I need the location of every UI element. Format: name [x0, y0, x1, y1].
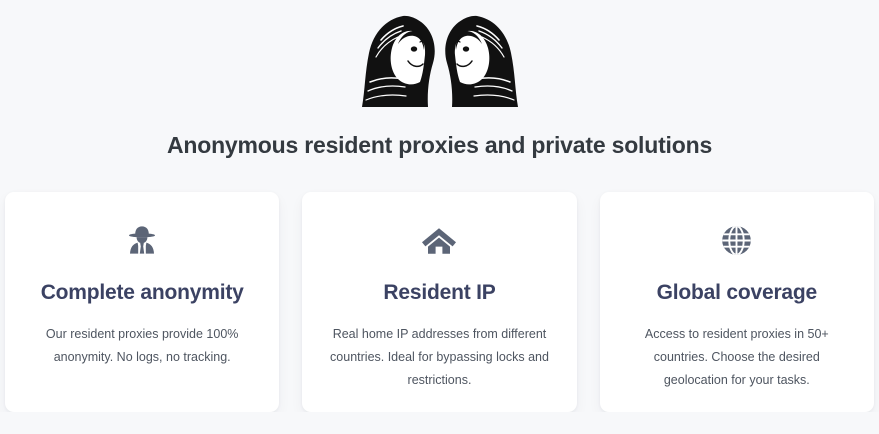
- card-title: Complete anonymity: [41, 281, 244, 305]
- page-title: Anonymous resident proxies and private s…: [0, 132, 879, 160]
- card-description: Our resident proxies provide 100% anonym…: [26, 323, 258, 369]
- landing-page: Anonymous resident proxies and private s…: [0, 0, 879, 434]
- hero-section: Anonymous resident proxies and private s…: [0, 0, 879, 160]
- page-bottom-spacer: [0, 412, 879, 434]
- feature-cards: Complete anonymity Our resident proxies …: [5, 192, 874, 412]
- card-description: Access to resident proxies in 50+ countr…: [621, 323, 853, 392]
- globe-icon: [719, 222, 755, 258]
- card-title: Global coverage: [657, 281, 817, 305]
- feature-card-resident-ip: Resident IP Real home IP addresses from …: [302, 192, 576, 412]
- two-hooded-figures-logo: [340, 6, 540, 118]
- feature-card-global-coverage: Global coverage Access to resident proxi…: [600, 192, 874, 412]
- card-title: Resident IP: [383, 281, 495, 305]
- feature-card-complete-anonymity: Complete anonymity Our resident proxies …: [5, 192, 279, 412]
- home-icon: [421, 222, 457, 258]
- spy-icon: [124, 222, 160, 258]
- card-description: Real home IP addresses from different co…: [323, 323, 555, 392]
